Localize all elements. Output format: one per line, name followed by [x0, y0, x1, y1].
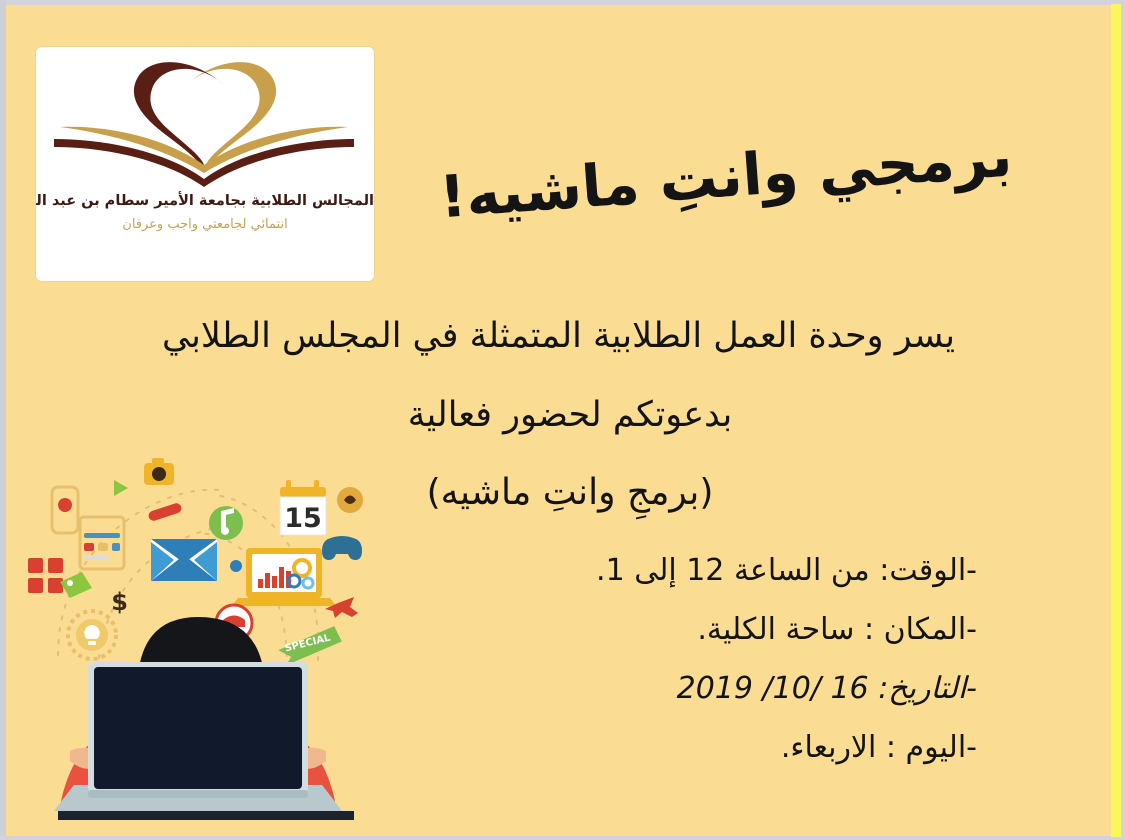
invitation-line-2: بدعوتكم لحضور فعالية — [345, 395, 795, 435]
dot-icon — [230, 560, 242, 572]
laptop-chart-icon — [232, 548, 336, 606]
play-icon — [114, 480, 128, 496]
invitation-line-1: يسر وحدة العمل الطلابية المتمثلة في المج… — [185, 316, 955, 356]
laptop-girl-illustration: $ — [18, 455, 378, 820]
camera-icon — [144, 458, 174, 485]
logo-tagline-text: انتمائي لجامعتي واجب وعرفان — [36, 217, 374, 232]
envelope-icon — [151, 539, 217, 581]
mobile-phone-icon — [52, 487, 78, 533]
lightbulb-icon — [68, 611, 116, 659]
dollar-sign-icon: $ — [111, 588, 128, 616]
event-poster: المجالس الطلابية بجامعة الأمير سطام بن ع… — [0, 0, 1125, 840]
pen-icon — [147, 502, 182, 522]
event-name-line: (برمجِ وانتِ ماشيه) — [405, 472, 735, 513]
money-tag-icon — [60, 572, 92, 598]
yellow-accent-strip — [1111, 4, 1121, 837]
special-ribbon-icon: SPECIAL — [276, 626, 343, 667]
student-councils-logo-icon — [36, 55, 374, 195]
calendar-icon: 15 — [280, 480, 326, 535]
music-note-icon — [209, 506, 243, 540]
poster-edge-right — [1121, 0, 1125, 840]
app-grid-icon — [28, 558, 63, 593]
calendar-day-number: 15 — [284, 503, 322, 534]
poster-edge-left — [0, 0, 6, 840]
university-logo-card: المجالس الطلابية بجامعة الأمير سطام بن ع… — [36, 47, 374, 281]
gamepad-icon — [322, 536, 362, 560]
laptop-device — [54, 662, 354, 820]
logo-title-text: المجالس الطلابية بجامعة الأمير سطام بن ع… — [36, 193, 374, 209]
poster-edge-bottom — [0, 836, 1125, 840]
badge-icon — [337, 487, 363, 513]
poster-edge-top — [0, 0, 1125, 5]
